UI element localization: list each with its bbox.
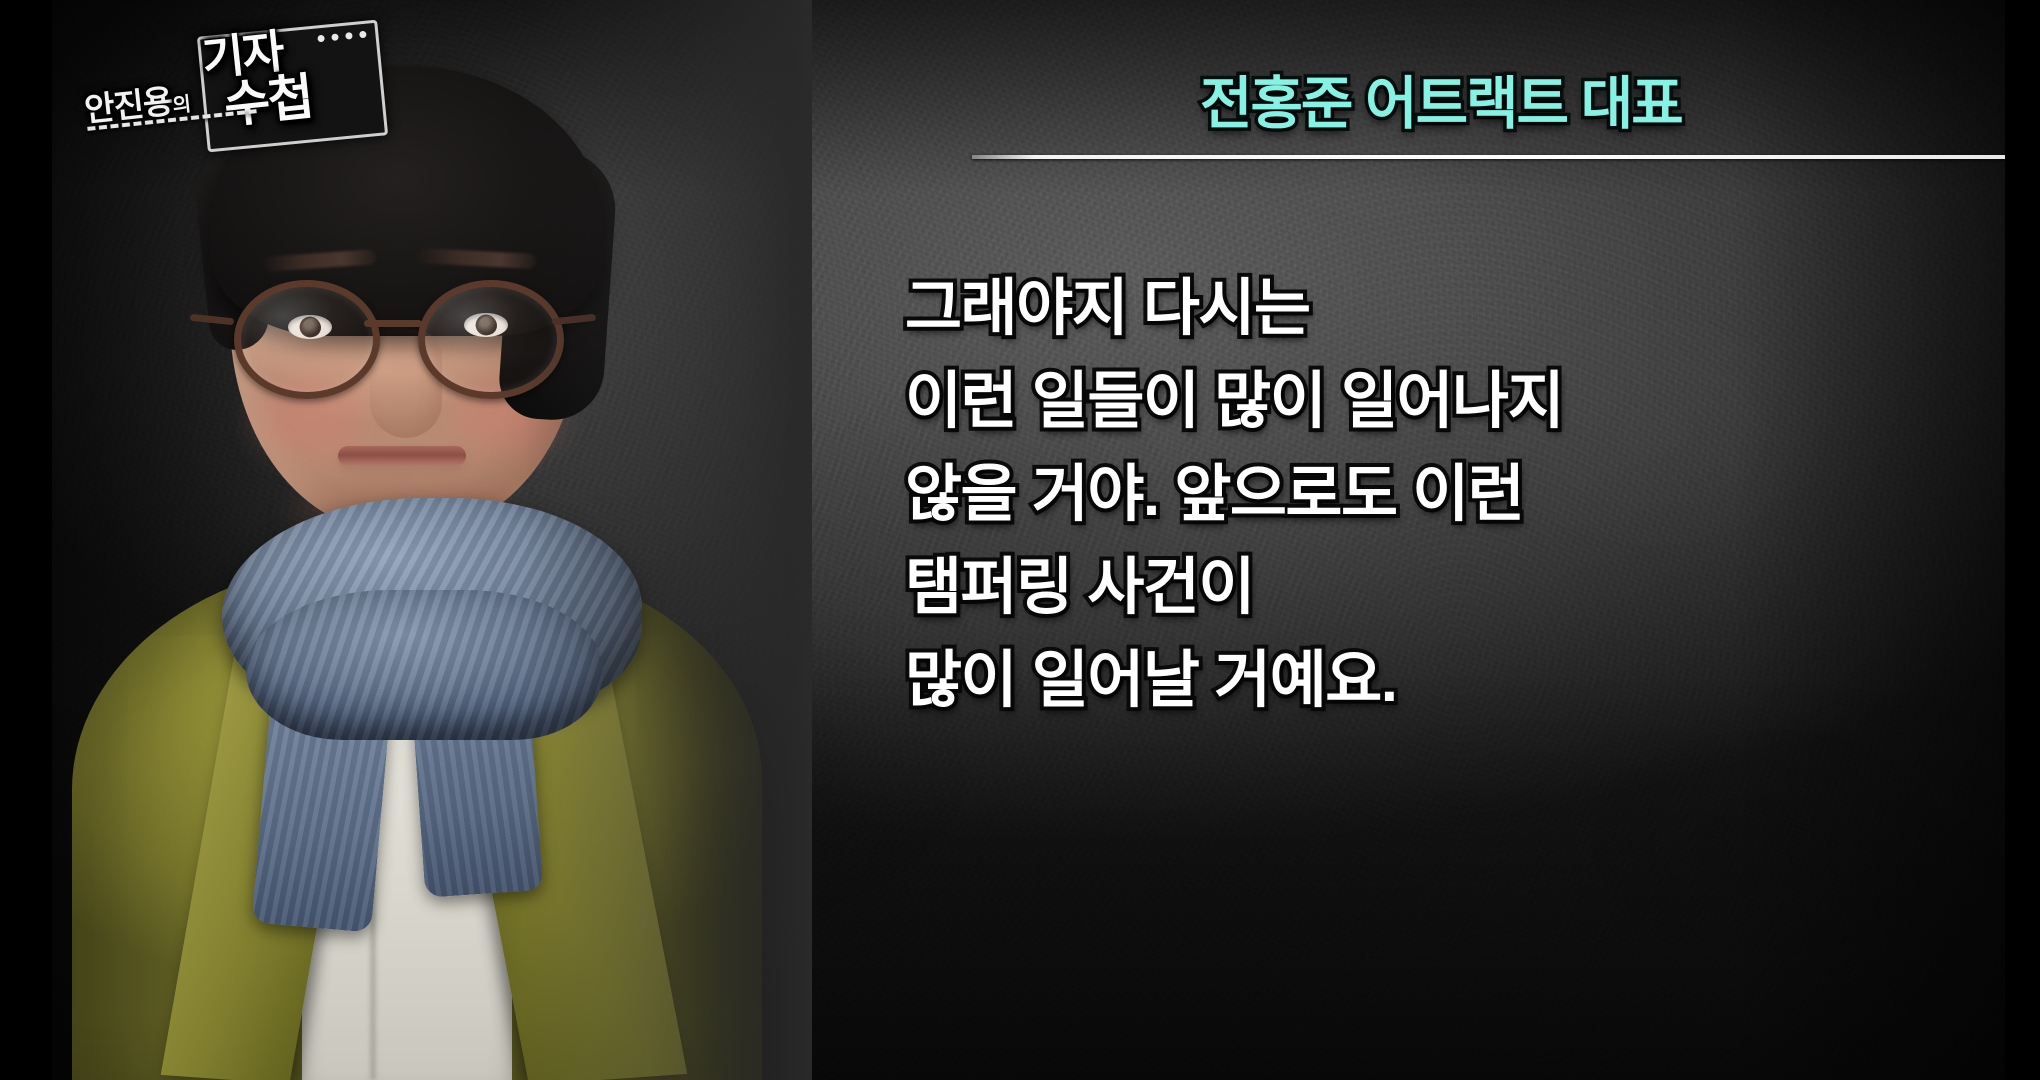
- quote-line: 많이 일어날 거예요.: [905, 634, 1985, 727]
- program-logo: 기자 수첩 안진용의: [84, 22, 384, 140]
- quote-line: 이런 일들이 많이 일어나지: [905, 355, 1985, 448]
- video-frame: 기자 수첩 안진용의 전홍준 어트랙트 대표 그래야지 다시는 이런 일들이 많…: [0, 0, 2040, 1080]
- quote-line: 그래야지 다시는: [905, 262, 1985, 355]
- quote-line: 탬퍼링 사건이: [905, 541, 1985, 634]
- speaker-nameplate: 전홍준 어트랙트 대표: [1200, 58, 1682, 140]
- mouth: [338, 446, 466, 466]
- scarf: [222, 498, 642, 798]
- speaker-name: 전홍준: [1200, 72, 1351, 136]
- notepad-spiral-rings: [317, 31, 366, 43]
- spiral-ring: [331, 33, 339, 41]
- speaker-role: 어트랙트 대표: [1365, 72, 1681, 136]
- eyeglass-temple-right: [552, 314, 596, 326]
- speaker-photo: [52, 0, 812, 1080]
- logo-byline-suffix: 의: [172, 94, 192, 118]
- speaker-photo-figure: [52, 0, 812, 1080]
- letterbox-left: [0, 0, 52, 1080]
- spiral-ring: [359, 31, 367, 39]
- eyeglass-lens-right: [418, 280, 564, 399]
- quote-line: 않을 거야. 앞으로도 이런: [905, 448, 1985, 541]
- nameplate-divider: [972, 155, 2005, 159]
- logo-title-bottom: 수첩: [221, 70, 314, 133]
- letterbox-right: [2005, 0, 2040, 1080]
- spiral-ring: [317, 35, 325, 43]
- quote-block: 그래야지 다시는 이런 일들이 많이 일어나지 않을 거야. 앞으로도 이런 탬…: [905, 262, 1985, 727]
- eyeglasses: [230, 276, 590, 386]
- eyeglass-lens-left: [234, 280, 380, 399]
- spiral-ring: [345, 32, 353, 40]
- eyeglass-bridge: [364, 320, 422, 327]
- scarf-coil-lower: [246, 590, 602, 740]
